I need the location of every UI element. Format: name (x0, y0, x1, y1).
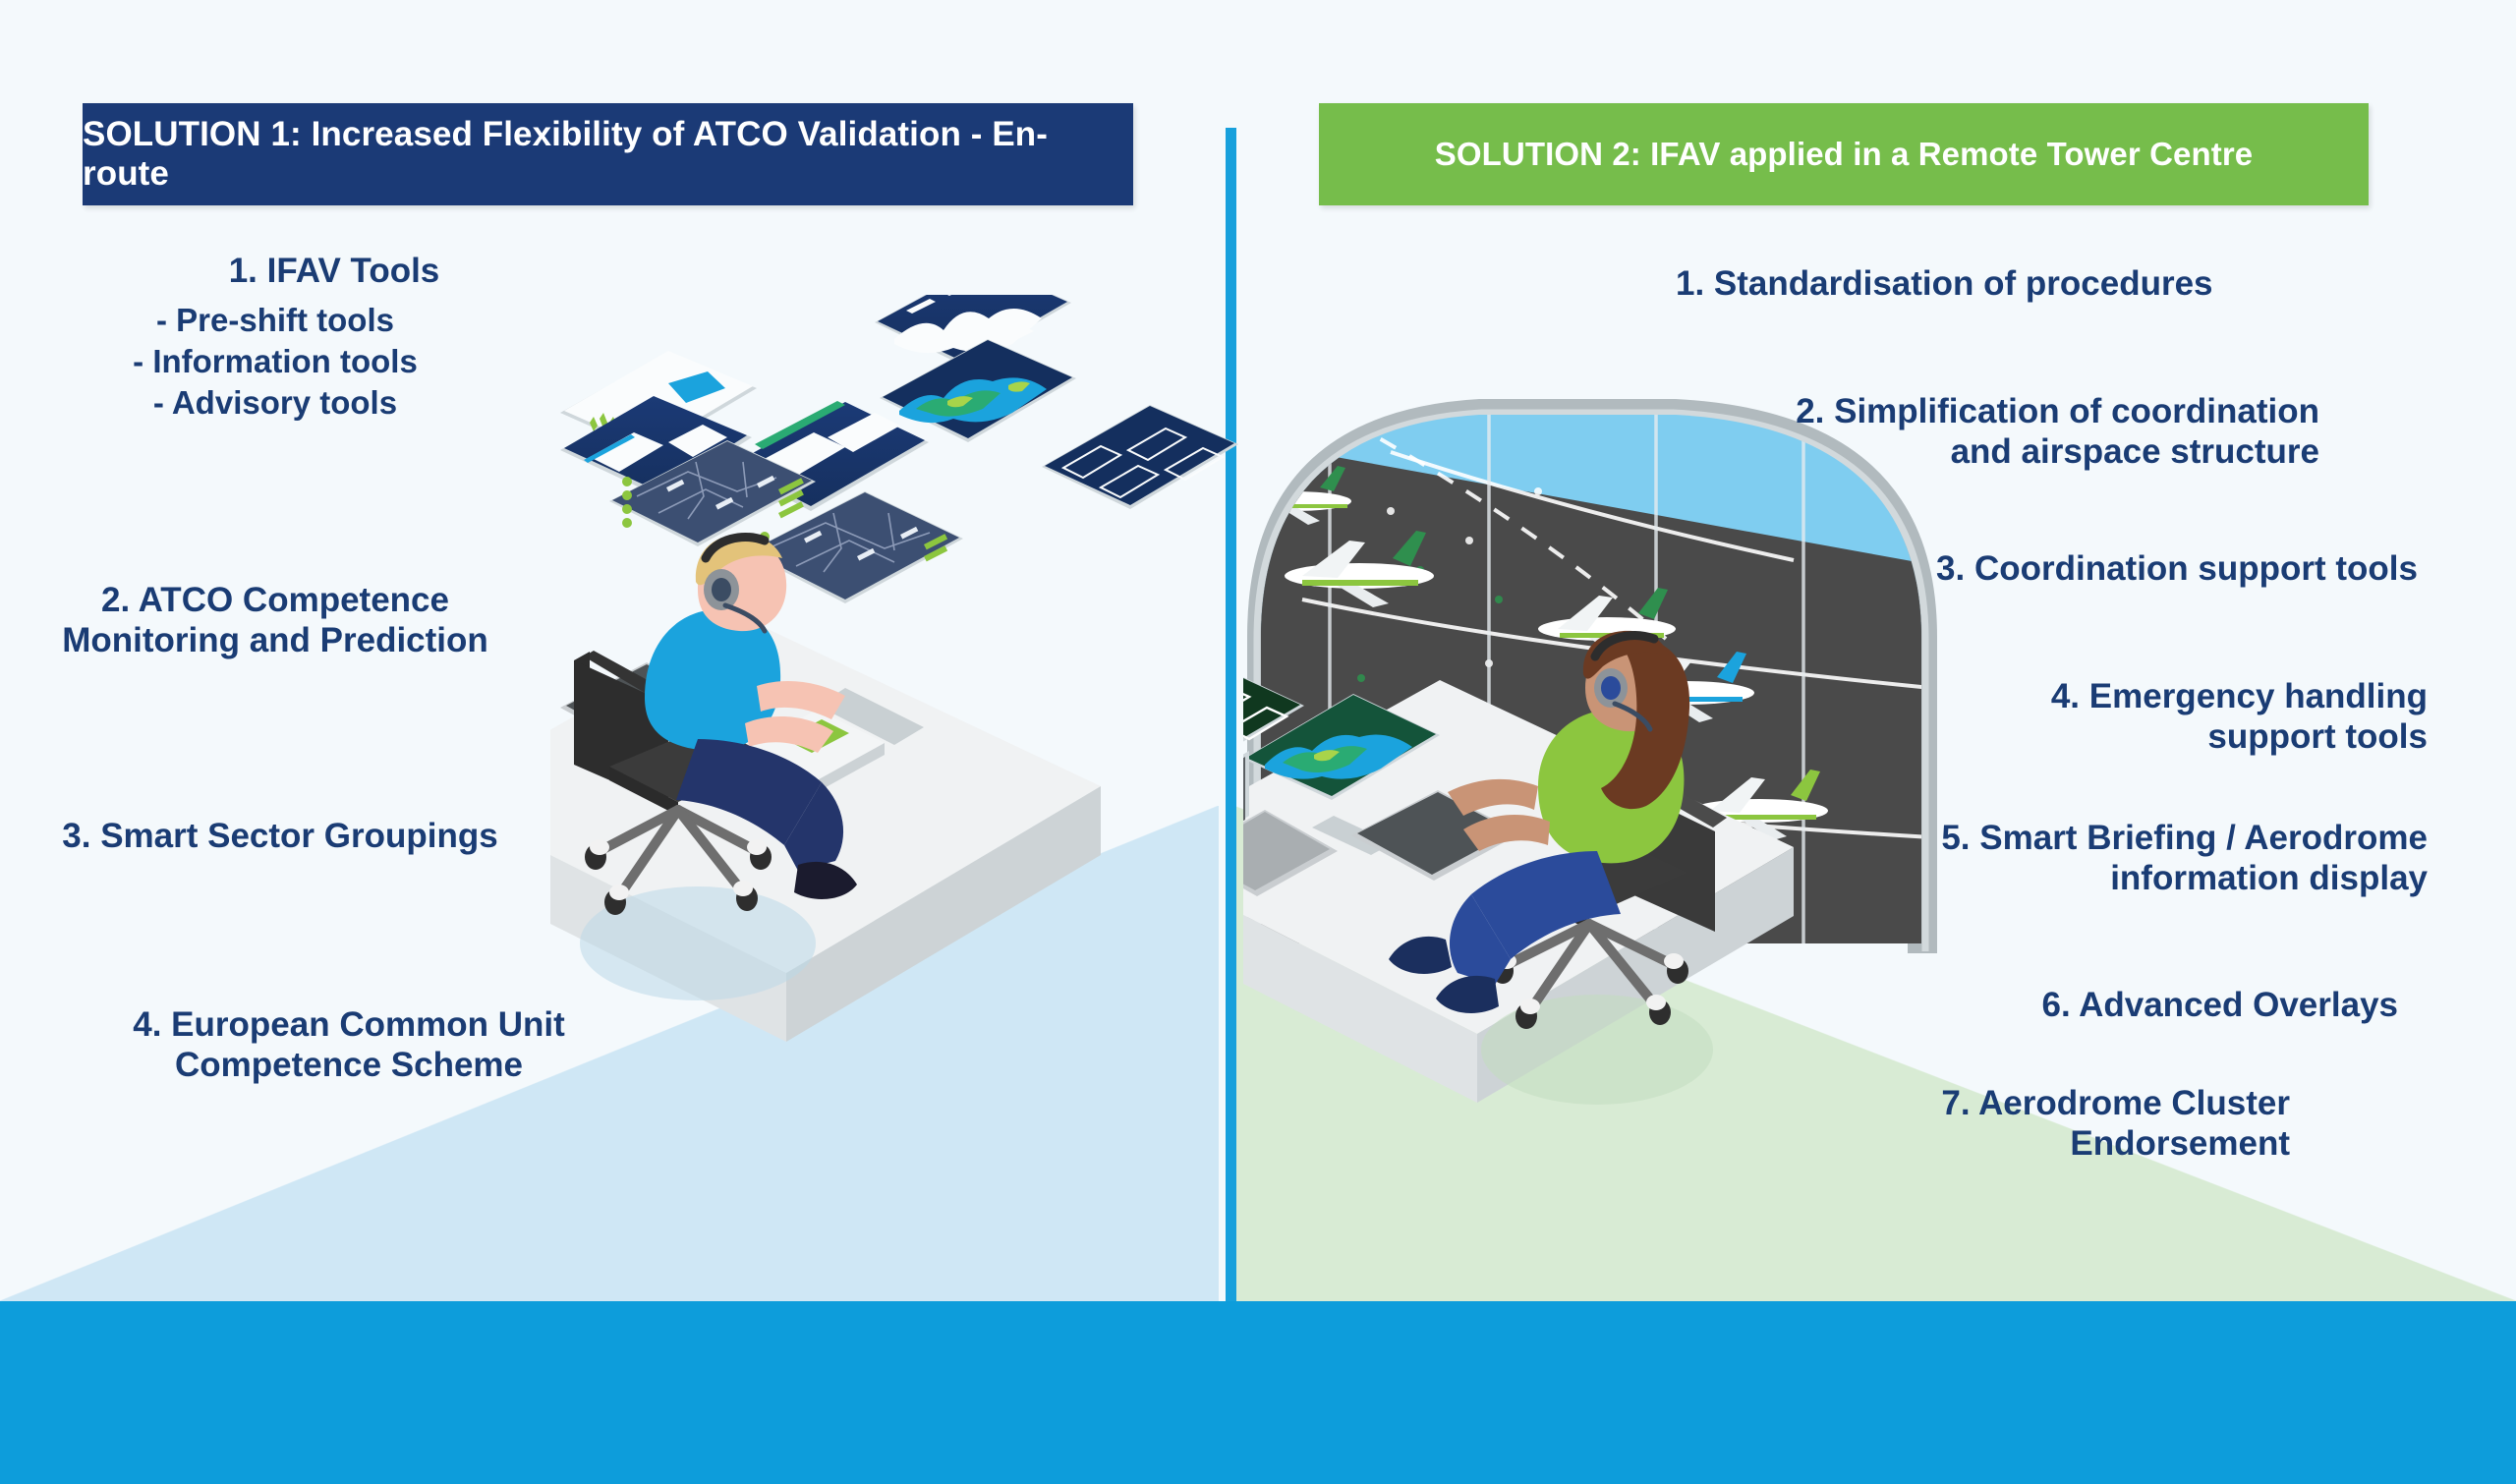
right-item-3: 3. Coordination support tools (1671, 548, 2418, 589)
right-item-5: 5. Smart Briefing / Aerodrome informatio… (1671, 818, 2428, 899)
infographic-poster: SOLUTION 1: Increased Flexibility of ATC… (0, 0, 2516, 1484)
left-item-3: 3. Smart Sector Groupings (49, 816, 511, 856)
right-item-6: 6. Advanced Overlays (1730, 985, 2398, 1025)
left-item-2: 2. ATCO Competence Monitoring and Predic… (49, 580, 501, 661)
left-item-1-sublist: - Pre-shift tools - Information tools - … (69, 300, 482, 425)
left-item-1: 1. IFAV Tools (128, 251, 541, 291)
right-item-2: 2. Simplification of coordination and ai… (1533, 391, 2319, 473)
right-item-7: 7. Aerodrome Cluster Endorsement (1710, 1083, 2290, 1165)
right-item-1: 1. Standardisation of procedures (1676, 263, 2364, 304)
banner-solution-2-title: SOLUTION 2: IFAV applied in a Remote Tow… (1435, 136, 2253, 173)
right-item-4: 4. Emergency handling support tools (1730, 676, 2428, 758)
left-item-4: 4. European Common Unit Competence Schem… (118, 1004, 580, 1086)
banner-solution-1: SOLUTION 1: Increased Flexibility of ATC… (83, 103, 1133, 205)
illustration-left (550, 295, 1238, 1179)
banner-solution-2: SOLUTION 2: IFAV applied in a Remote Tow… (1319, 103, 2369, 205)
terrain-contour-screen (880, 339, 1076, 442)
banner-solution-1-title: SOLUTION 1: Increased Flexibility of ATC… (83, 115, 1133, 194)
footer-band: IFAV3 SUPPORTED BY sesar JOINT UNDERTAKI… (0, 1301, 2516, 1484)
flight-strips-screen (1042, 405, 1238, 509)
